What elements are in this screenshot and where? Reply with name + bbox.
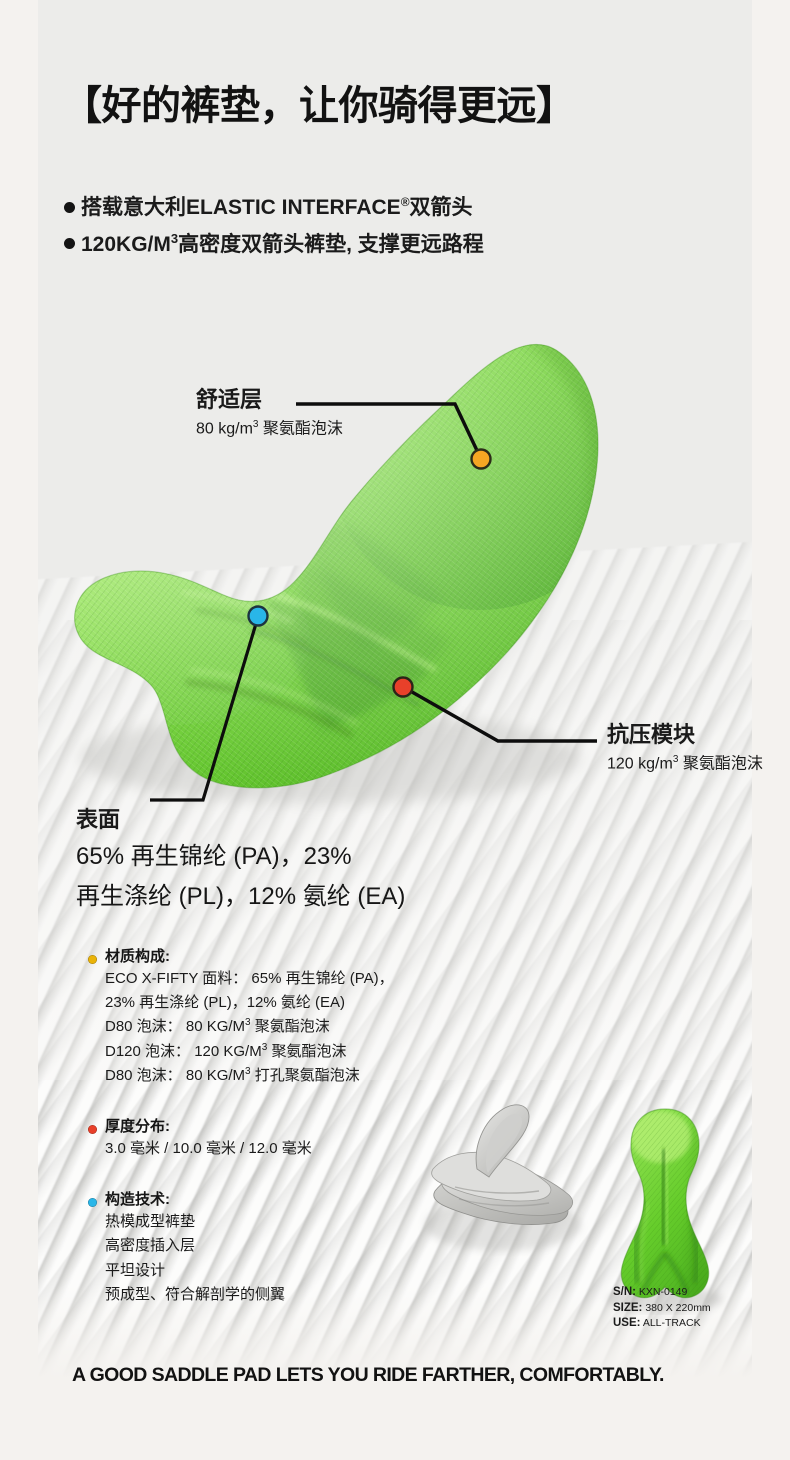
product-infographic-page: 【好的裤垫，让你骑得更远】 搭载意大利ELASTIC INTERFACE®双箭头… xyxy=(0,0,790,1460)
callout-subtitle: 120 kg/m3 聚氨酯泡沫 xyxy=(607,754,763,774)
header-bullet-list: 搭载意大利ELASTIC INTERFACE®双箭头 120KG/M3高密度双箭… xyxy=(64,196,484,269)
footer-tagline: A GOOD SADDLE PAD LETS YOU RIDE FARTHER,… xyxy=(72,1364,664,1387)
callout-title: 舒适层 xyxy=(196,388,343,412)
stamp-value: KXN-0149 xyxy=(639,1286,687,1298)
header-bullet-text: 120KG/M3高密度双箭头裤垫, 支撑更远路程 xyxy=(81,232,484,255)
green-pad-front-render xyxy=(593,1103,743,1313)
spec-section-material-composition: 材质构成: ECO X-FIFTY 面料： 65% 再生锦纶 (PA)， 23%… xyxy=(88,948,508,1088)
product-renders-illustration xyxy=(415,1095,755,1315)
spec-section-heading: 材质构成: xyxy=(105,948,170,967)
stamp-row-serial-number: S/N: KXN-0149 xyxy=(613,1285,711,1301)
spec-line: D80 泡沫： 80 KG/M3 打孔聚氨酯泡沫 xyxy=(105,1064,508,1088)
callout-title: 抗压模块 xyxy=(607,723,763,747)
header-bullet-item: 120KG/M3高密度双箭头裤垫, 支撑更远路程 xyxy=(64,232,484,255)
callout-body-line: 65% 再生锦纶 (PA)，23% xyxy=(76,840,405,874)
spec-line: D80 泡沫： 80 KG/M3 聚氨酯泡沫 xyxy=(105,1015,508,1039)
stamp-value: 380 X 220mm xyxy=(645,1302,710,1314)
callout-body-line: 再生涤纶 (PL)，12% 氨纶 (EA) xyxy=(76,880,405,914)
callout-subtitle: 80 kg/m3 聚氨酯泡沫 xyxy=(196,419,343,439)
stamp-row-use: USE: ALL-TRACK xyxy=(613,1316,711,1332)
bullet-dot-icon xyxy=(88,1125,97,1134)
header-bullet-text: 搭载意大利ELASTIC INTERFACE®双箭头 xyxy=(81,196,473,218)
stamp-label: S/N: xyxy=(613,1286,636,1298)
product-render-group xyxy=(415,1095,755,1315)
exploded-layers-render xyxy=(425,1105,581,1251)
spec-section-header: 材质构成: xyxy=(88,948,508,967)
callout-comfort-layer: 舒适层 80 kg/m3 聚氨酯泡沫 xyxy=(196,388,343,439)
spec-section-heading: 构造技术: xyxy=(105,1191,170,1210)
callout-surface: 表面 65% 再生锦纶 (PA)，23% 再生涤纶 (PL)，12% 氨纶 (E… xyxy=(76,802,405,914)
bullet-dot-icon xyxy=(64,202,75,213)
spec-line: D120 泡沫： 120 KG/M3 聚氨酯泡沫 xyxy=(105,1040,508,1064)
spec-section-heading: 厚度分布: xyxy=(105,1118,170,1137)
spec-section-lines: ECO X-FIFTY 面料： 65% 再生锦纶 (PA)， 23% 再生涤纶 … xyxy=(105,967,508,1088)
bullet-dot-icon xyxy=(64,238,75,249)
page-title: 【好的裤垫，让你骑得更远】 xyxy=(62,73,576,131)
header-bullet-item: 搭载意大利ELASTIC INTERFACE®双箭头 xyxy=(64,196,484,218)
stamp-value: ALL-TRACK xyxy=(643,1317,701,1329)
stamp-label: USE: xyxy=(613,1317,640,1329)
product-spec-stamp: S/N: KXN-0149 SIZE: 380 X 220mm USE: ALL… xyxy=(613,1285,711,1332)
spec-line: ECO X-FIFTY 面料： 65% 再生锦纶 (PA)， xyxy=(105,967,508,991)
bullet-dot-icon xyxy=(88,1198,97,1207)
bullet-dot-icon xyxy=(88,955,97,964)
registered-trademark-icon: ® xyxy=(401,195,410,209)
stamp-label: SIZE: xyxy=(613,1302,642,1314)
stamp-row-size: SIZE: 380 X 220mm xyxy=(613,1301,711,1317)
callout-title: 表面 xyxy=(76,802,405,834)
callout-pressure-module: 抗压模块 120 kg/m3 聚氨酯泡沫 xyxy=(607,723,763,774)
spec-line: 23% 再生涤纶 (PL)，12% 氨纶 (EA) xyxy=(105,991,508,1015)
